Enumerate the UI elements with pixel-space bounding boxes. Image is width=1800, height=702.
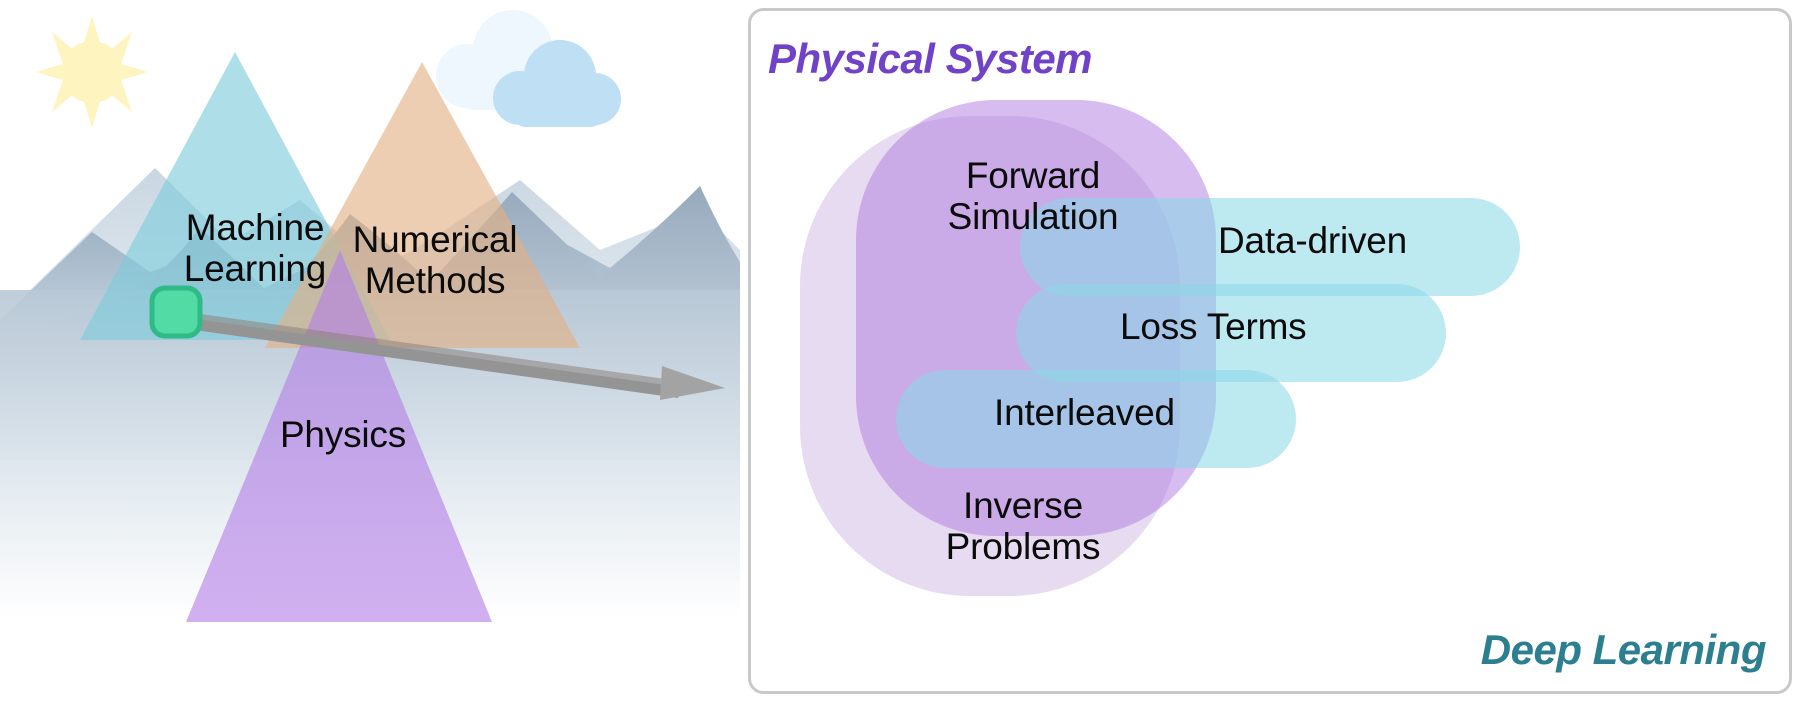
triangle-label-numerical-methods: Numerical Methods: [330, 220, 540, 301]
figure-canvas: Machine Learning Numerical Methods Physi…: [0, 0, 1800, 702]
blob-label-forward-simulation: Forward Simulation: [908, 156, 1158, 237]
pill-label-interleaved: Interleaved: [994, 394, 1175, 431]
overlap-diagram-svg: [748, 8, 1792, 694]
sun-icon: [36, 16, 148, 128]
intersection-highlight[interactable]: [152, 288, 200, 336]
deep-learning-title: Deep Learning: [1481, 626, 1766, 674]
right-detail-panel: Physical System Forward Simulation Inver…: [748, 8, 1792, 694]
triangle-label-physics: Physics: [233, 415, 453, 456]
pill-label-loss-terms: Loss Terms: [1120, 308, 1307, 345]
pill-label-data-driven: Data-driven: [1218, 222, 1407, 259]
physical-system-title: Physical System: [768, 35, 1092, 83]
left-illustration-panel: Machine Learning Numerical Methods Physi…: [0, 0, 740, 702]
triangle-label-machine-learning: Machine Learning: [150, 208, 360, 289]
blob-label-inverse-problems: Inverse Problems: [898, 486, 1148, 567]
mountain-scene-svg: [0, 0, 740, 702]
